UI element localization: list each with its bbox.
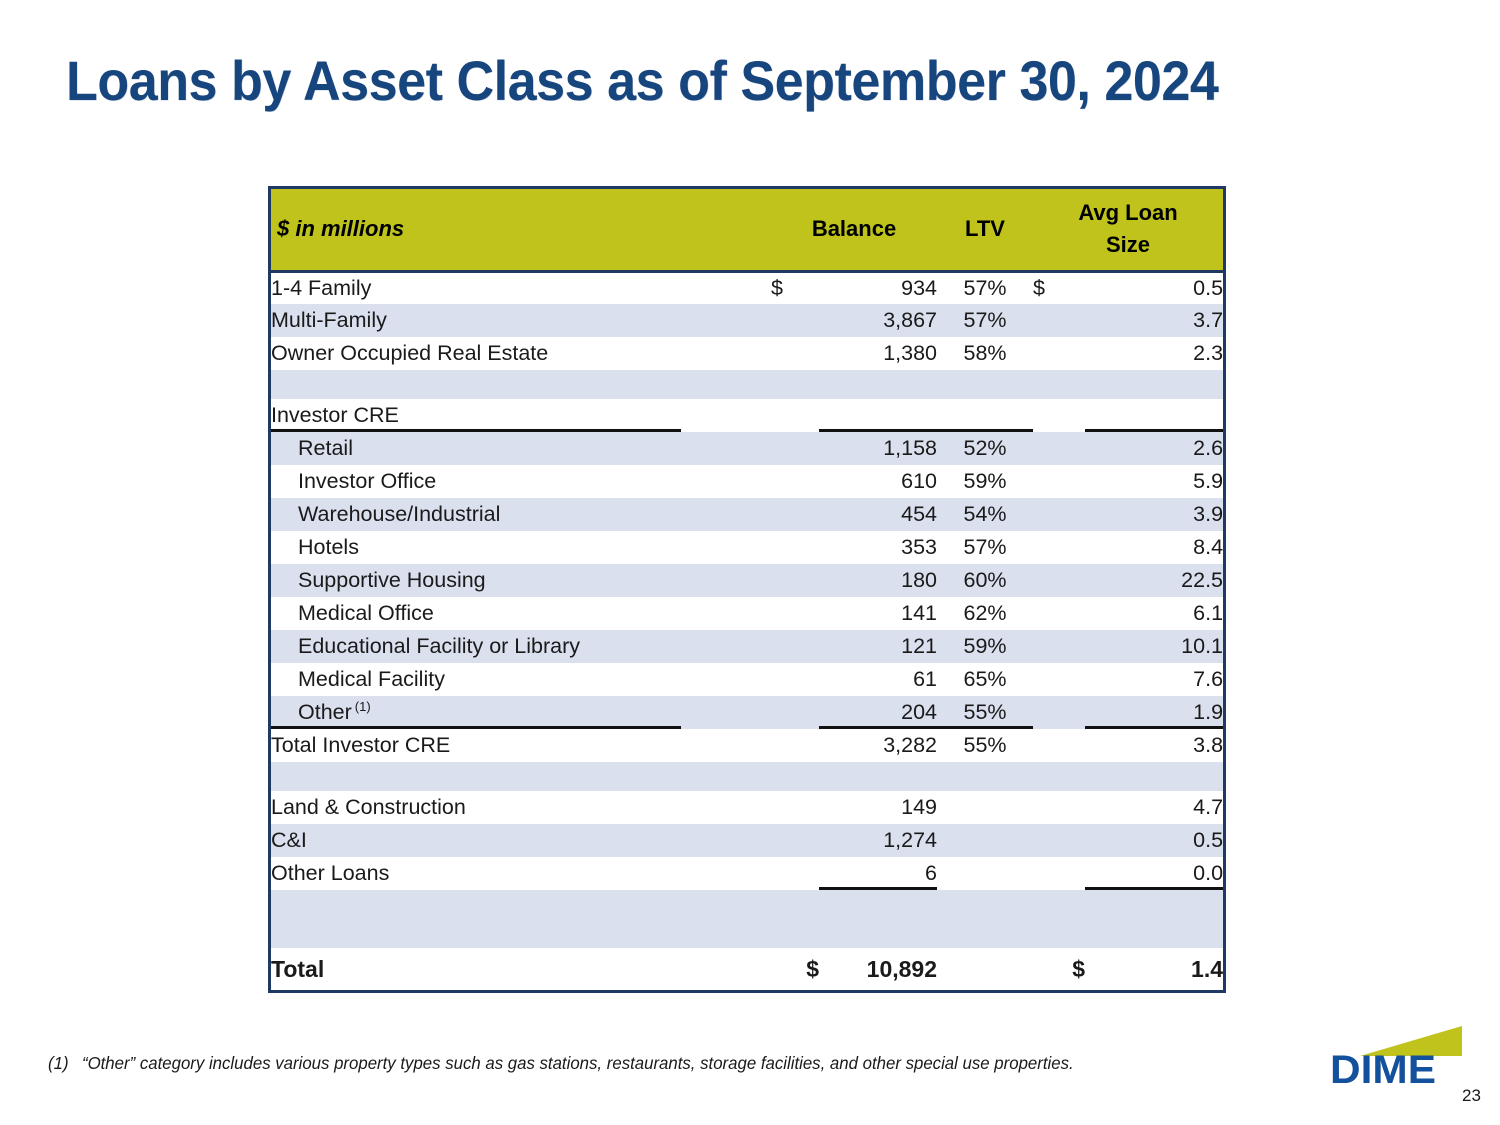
table-row: Educational Facility or Library 121 59% … [271,630,1223,663]
table-row: Multi-Family 3,867 57% 3.7 [271,304,1223,337]
row-avg-symbol [1033,399,1085,432]
row-avg-symbol [1033,791,1085,824]
row-avg-symbol [1033,465,1085,498]
row-ltv: 55% [937,696,1033,729]
row-label-text: Other [298,701,352,725]
row-label: Total Investor CRE [271,729,771,762]
row-avg: 7.6 [1085,663,1223,696]
row-balance-symbol [771,729,819,762]
total-ltv [937,948,1033,990]
row-avg: 2.6 [1085,432,1223,465]
page-number: 23 [1462,1086,1481,1106]
row-label: Medical Office [271,597,771,630]
row-avg-symbol [1033,564,1085,597]
row-avg: 4.7 [1085,791,1223,824]
row-avg-symbol [1033,432,1085,465]
row-balance-symbol [771,432,819,465]
row-avg: 6.1 [1085,597,1223,630]
header-avg-loan-size-line2: Size [1106,232,1150,257]
row-avg-symbol [1033,498,1085,531]
row-ltv: 58% [937,337,1033,370]
row-label: Other Loans [271,857,771,890]
row-ltv: 65% [937,663,1033,696]
header-balance: Balance [771,189,937,271]
row-label: Educational Facility or Library [271,630,771,663]
row-balance: 121 [819,630,937,663]
table-row: Owner Occupied Real Estate 1,380 58% 2.3 [271,337,1223,370]
row-label: 1-4 Family [271,271,771,304]
spacer-row [271,919,1223,948]
row-avg-symbol [1033,696,1085,729]
row-balance: 934 [819,271,937,304]
logo-wordmark: DIME [1330,1048,1436,1093]
footnote-number: (1) [48,1053,69,1073]
page-title: Loans by Asset Class as of September 30,… [66,48,1294,113]
row-ltv: 59% [937,465,1033,498]
row-avg-symbol: $ [1033,271,1085,304]
row-balance-symbol [771,399,819,432]
row-ltv [937,857,1033,890]
row-ltv: 52% [937,432,1033,465]
row-balance: 3,867 [819,304,937,337]
row-label: Supportive Housing [271,564,771,597]
row-avg: 1.9 [1085,696,1223,729]
row-ltv [937,399,1033,432]
row-avg: 3.8 [1085,729,1223,762]
table-row: C&I 1,274 0.5 [271,824,1223,857]
row-balance-symbol: $ [771,271,819,304]
row-avg-symbol [1033,337,1085,370]
row-ltv: 55% [937,729,1033,762]
row-ltv: 57% [937,531,1033,564]
row-ltv: 59% [937,630,1033,663]
row-ltv: 57% [937,271,1033,304]
row-balance-symbol [771,498,819,531]
row-avg: 5.9 [1085,465,1223,498]
row-balance-symbol [771,531,819,564]
header-units: $ in millions [271,189,771,271]
row-avg: 0.0 [1085,857,1223,890]
row-avg: 2.3 [1085,337,1223,370]
header-row: $ in millions Balance LTV Avg Loan Size [271,189,1223,271]
table-row-subtotal: Total Investor CRE 3,282 55% 3.8 [271,729,1223,762]
row-label: Hotels [271,531,771,564]
row-avg-symbol [1033,630,1085,663]
table-row: Land & Construction 149 4.7 [271,791,1223,824]
header-ltv: LTV [937,189,1033,271]
row-label: Other(1) [271,696,771,729]
row-balance: 454 [819,498,937,531]
table-row: Medical Facility 61 65% 7.6 [271,663,1223,696]
row-avg: 3.9 [1085,498,1223,531]
row-avg: 0.5 [1085,824,1223,857]
row-balance: 1,158 [819,432,937,465]
table-row: Medical Office 141 62% 6.1 [271,597,1223,630]
row-avg-symbol [1033,824,1085,857]
table-row: Other(1) 204 55% 1.9 [271,696,1223,729]
table-body: 1-4 Family $ 934 57% $ 0.5 Multi-Family … [271,271,1223,990]
spacer-row [271,762,1223,791]
row-balance: 3,282 [819,729,937,762]
spacer-row [271,370,1223,399]
row-balance: 61 [819,663,937,696]
table-row: Supportive Housing 180 60% 22.5 [271,564,1223,597]
row-ltv: 54% [937,498,1033,531]
table-row-total: Total $ 10,892 $ 1.4 [271,948,1223,990]
row-label: Land & Construction [271,791,771,824]
row-label: Retail [271,432,771,465]
row-avg: 0.5 [1085,271,1223,304]
row-ltv [937,824,1033,857]
row-avg [1085,399,1223,432]
row-balance-symbol [771,663,819,696]
row-avg-symbol [1033,597,1085,630]
row-avg: 22.5 [1085,564,1223,597]
row-balance-symbol [771,630,819,663]
row-balance: 180 [819,564,937,597]
footnote-text: “Other” category includes various proper… [82,1053,1074,1073]
table-row: Investor Office 610 59% 5.9 [271,465,1223,498]
row-label: Warehouse/Industrial [271,498,771,531]
total-avg-symbol: $ [1033,948,1085,990]
row-label: Investor Office [271,465,771,498]
row-balance-symbol [771,824,819,857]
row-avg-symbol [1033,857,1085,890]
row-balance: 1,380 [819,337,937,370]
row-balance-symbol [771,597,819,630]
row-avg-symbol [1033,729,1085,762]
loans-table: $ in millions Balance LTV Avg Loan Size … [271,189,1223,990]
row-avg: 3.7 [1085,304,1223,337]
total-balance: 10,892 [819,948,937,990]
row-balance-symbol [771,337,819,370]
row-balance-symbol [771,791,819,824]
row-ltv: 62% [937,597,1033,630]
row-balance: 204 [819,696,937,729]
spacer-row [271,890,1223,919]
row-balance: 353 [819,531,937,564]
row-balance: 141 [819,597,937,630]
row-avg: 8.4 [1085,531,1223,564]
row-ltv [937,791,1033,824]
row-balance-symbol [771,304,819,337]
header-avg-loan-size: Avg Loan Size [1033,189,1223,271]
row-label: C&I [271,824,771,857]
row-avg-symbol [1033,531,1085,564]
row-ltv: 60% [937,564,1033,597]
total-avg: 1.4 [1085,948,1223,990]
row-balance: 6 [819,857,937,890]
table-row-section-header: Investor CRE [271,399,1223,432]
row-label: Owner Occupied Real Estate [271,337,771,370]
footnote-marker: (1) [355,699,371,714]
row-label: Investor CRE [271,399,771,432]
row-balance: 1,274 [819,824,937,857]
row-balance [819,399,937,432]
table-row: Other Loans 6 0.0 [271,857,1223,890]
dime-logo: DIME [1330,1026,1462,1088]
table-header: $ in millions Balance LTV Avg Loan Size [271,189,1223,271]
table-row: Warehouse/Industrial 454 54% 3.9 [271,498,1223,531]
row-avg-symbol [1033,663,1085,696]
row-balance-symbol [771,857,819,890]
total-balance-symbol: $ [771,948,819,990]
header-avg-loan-size-line1: Avg Loan [1078,200,1177,225]
row-balance-symbol [771,696,819,729]
row-ltv: 57% [937,304,1033,337]
row-balance-symbol [771,564,819,597]
table-row: Retail 1,158 52% 2.6 [271,432,1223,465]
loans-by-asset-class-table: $ in millions Balance LTV Avg Loan Size … [268,186,1226,993]
total-label: Total [271,948,771,990]
table-row: 1-4 Family $ 934 57% $ 0.5 [271,271,1223,304]
row-avg: 10.1 [1085,630,1223,663]
footnote: (1)“Other” category includes various pro… [48,1053,1074,1074]
row-balance-symbol [771,465,819,498]
table-row: Hotels 353 57% 8.4 [271,531,1223,564]
row-label: Multi-Family [271,304,771,337]
row-balance: 149 [819,791,937,824]
row-avg-symbol [1033,304,1085,337]
row-balance: 610 [819,465,937,498]
row-label: Medical Facility [271,663,771,696]
